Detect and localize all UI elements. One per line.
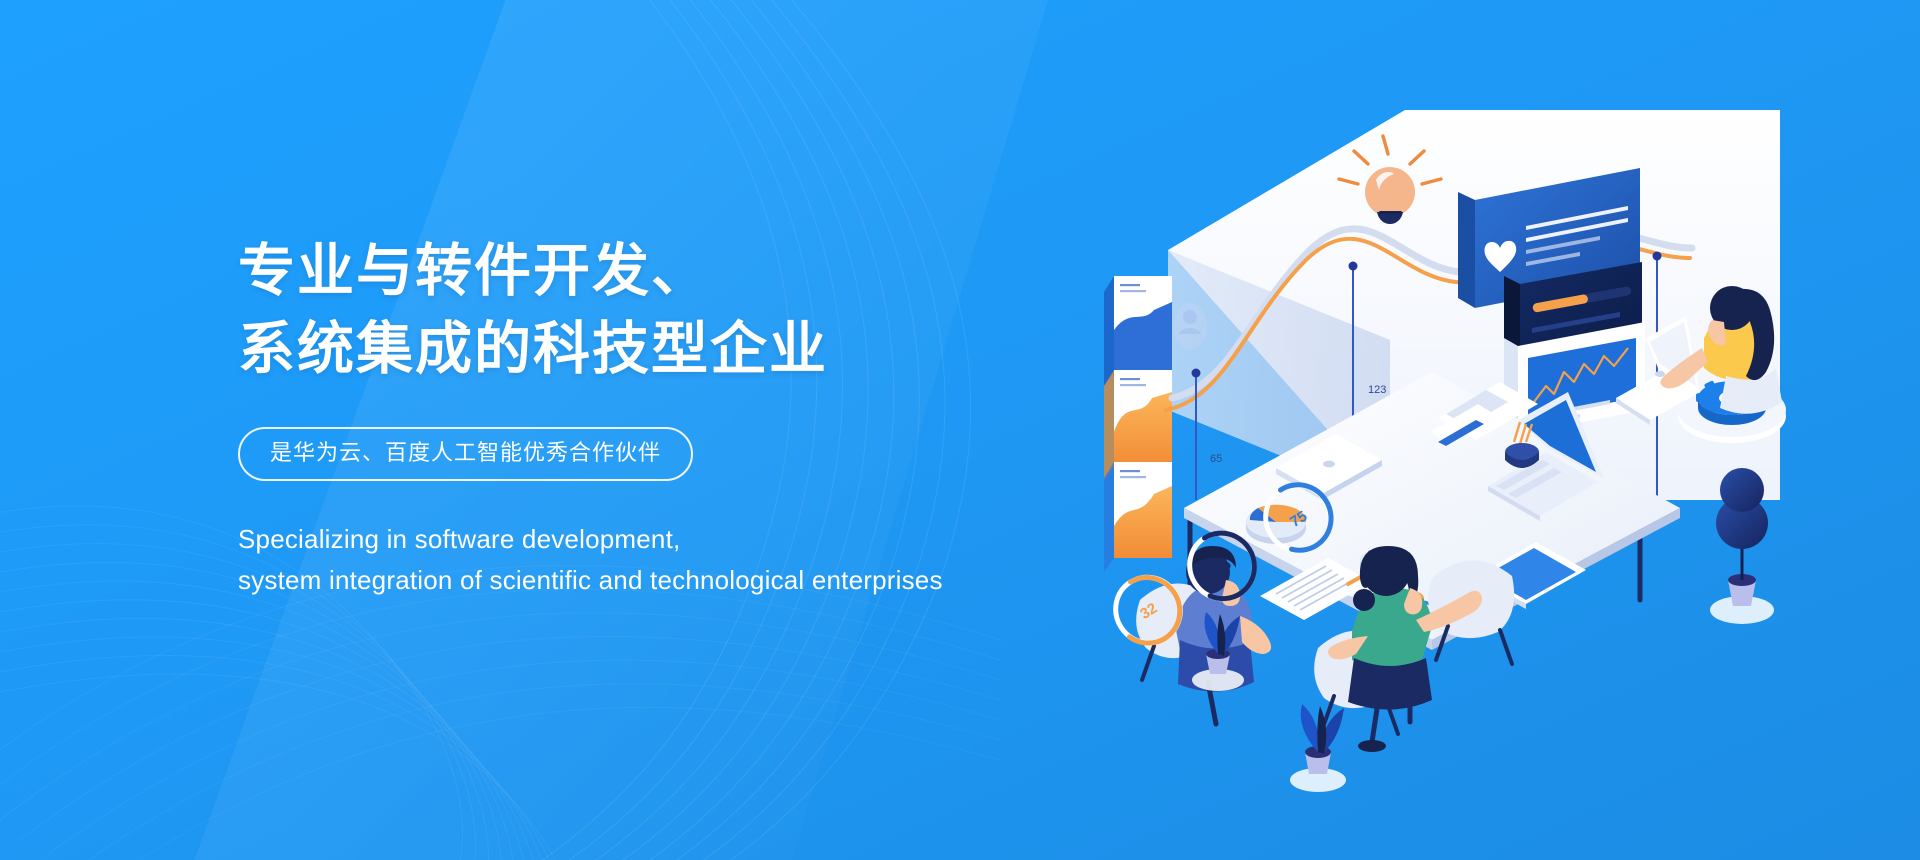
hero-banner: 专业与转件开发、 系统集成的科技型企业 是华为云、百度人工智能优秀合作伙伴 Sp… (0, 0, 1920, 860)
avatar-watermark (1173, 303, 1207, 349)
headline-line-2: 系统集成的科技型企业 (238, 310, 1138, 388)
headline-line-1: 专业与转件开发、 (238, 232, 1138, 310)
data-label-2: 123 (1368, 384, 1386, 396)
subtitle-line-2: system integration of scientific and tec… (238, 560, 1138, 601)
hero-illustration: 65 123 97 81 (1080, 80, 1880, 780)
plant-icon-bottom (1290, 704, 1346, 792)
hero-copy: 专业与转件开发、 系统集成的科技型企业 是华为云、百度人工智能优秀合作伙伴 Sp… (238, 232, 1138, 601)
partner-badge[interactable]: 是华为云、百度人工智能优秀合作伙伴 (238, 427, 693, 481)
subtitle-line-1: Specializing in software development, (238, 519, 1138, 560)
data-label-1: 65 (1210, 453, 1222, 465)
